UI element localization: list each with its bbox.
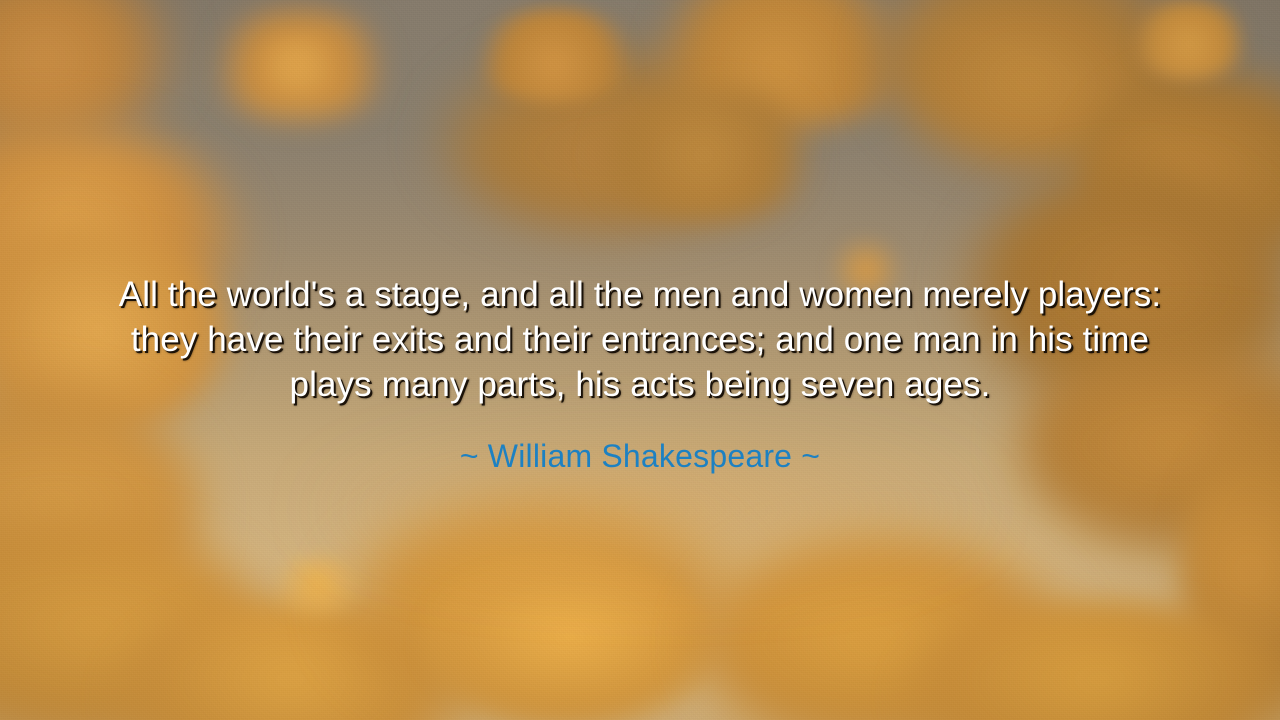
attribution-text: ~ William Shakespeare ~	[0, 437, 1280, 475]
cloud-puff-a	[252, 38, 342, 88]
cloud-top-center-b	[470, 8, 640, 103]
attribution-container: ~ William Shakespeare ~	[0, 437, 1280, 475]
cloud-right-nub	[1130, 0, 1250, 80]
cloud-top-center-d	[600, 90, 830, 220]
cloud-puff-c	[262, 556, 372, 616]
quote-text: All the world's a stage, and all the men…	[90, 272, 1190, 407]
quote-container: All the world's a stage, and all the men…	[0, 272, 1280, 407]
quote-image: All the world's a stage, and all the men…	[0, 0, 1280, 720]
